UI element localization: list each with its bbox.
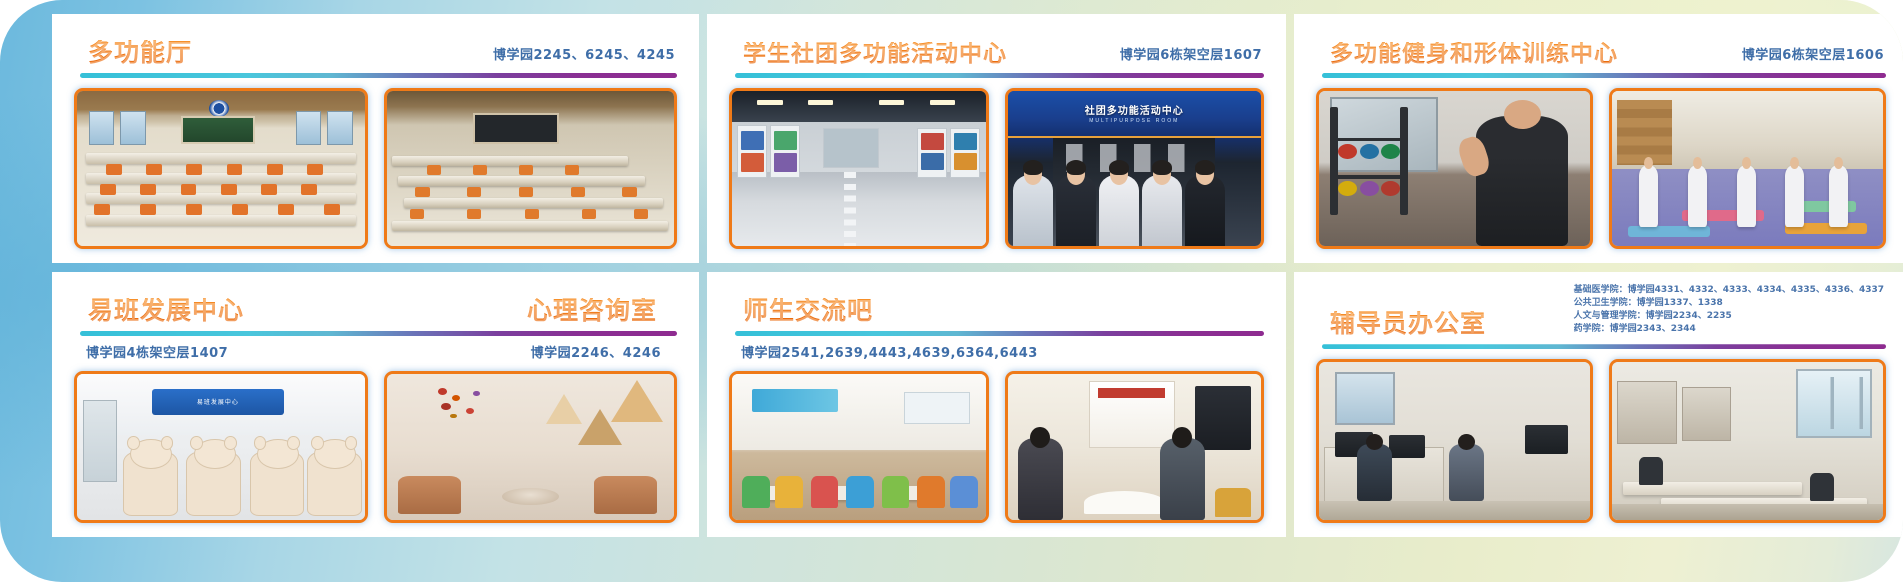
card-title-secondary: 心理咨询室	[527, 298, 657, 324]
card-photos	[1312, 78, 1890, 253]
photo-student-lounge-colorful-chairs[interactable]	[729, 371, 989, 523]
photo-yoga-studio[interactable]	[1609, 88, 1886, 249]
card-header: 多功能健身和形体训练中心 博学园6栋架空层1606	[1312, 26, 1890, 66]
card-yiban-development-and-counseling[interactable]: 易班发展中心 心理咨询室 博学园4栋架空层1407 博学园2246、4246 易…	[52, 272, 699, 537]
photo-banner-title: 社团多功能活动中心	[1085, 102, 1184, 117]
card-photos: 易班发展中心	[70, 361, 681, 527]
card-location-row: 博学园4栋架空层1407 博学园2246、4246	[70, 336, 681, 361]
header-divider	[1322, 344, 1886, 349]
card-teacher-student-exchange-bar[interactable]: 师生交流吧 博学园2541,2639,4443,4639,6364,6443	[707, 272, 1286, 537]
card-photos	[70, 78, 681, 253]
card-location-secondary: 博学园2246、4246	[531, 342, 661, 361]
photo-exhibition-corridor[interactable]	[729, 88, 989, 249]
header-divider	[80, 73, 677, 78]
photo-yiban-center-mascots[interactable]: 易班发展中心	[74, 371, 368, 523]
photo-consultation-desk-meeting[interactable]	[1005, 371, 1265, 523]
photo-banner-subtitle: MULTIPURPOSE ROOM	[1089, 118, 1179, 124]
card-location: 博学园2541,2639,4443,4639,6364,6443	[741, 342, 1038, 361]
photo-club-students-group-photo[interactable]: 社团多功能活动中心 MULTIPURPOSE ROOM	[1005, 88, 1265, 249]
card-location-lines: 基础医学院：博学园4331、4332、4333、4334、4335、4336、4…	[1574, 284, 1884, 337]
photo-lecture-hall-front-view[interactable]	[74, 88, 368, 249]
card-header: 易班发展中心 心理咨询室	[70, 284, 681, 324]
photo-psychological-counseling-room[interactable]	[384, 371, 678, 523]
card-location: 博学园4栋架空层1407	[86, 342, 228, 361]
location-line: 公共卫生学院：博学园1337、1338	[1574, 297, 1884, 310]
card-location: 博学园6栋架空层1607	[1120, 44, 1262, 66]
location-line: 人文与管理学院：博学园2234、2235	[1574, 310, 1884, 323]
card-title: 多功能健身和形体训练中心	[1330, 42, 1618, 66]
card-header: 辅导员办公室 基础医学院：博学园4331、4332、4333、4334、4335…	[1312, 284, 1890, 337]
card-photos: 社团多功能活动中心 MULTIPURPOSE ROOM	[725, 78, 1268, 253]
card-title: 易班发展中心	[88, 298, 244, 324]
photo-counselor-office-staff[interactable]	[1316, 359, 1593, 523]
photo-gym-weight-room[interactable]	[1316, 88, 1593, 249]
card-title: 师生交流吧	[743, 298, 873, 324]
facility-card-grid: 多功能厅 博学园2245、6245、4245	[0, 0, 1903, 582]
poster-root: 多功能厅 博学园2245、6245、4245	[0, 0, 1903, 582]
card-header: 师生交流吧	[725, 284, 1268, 324]
card-counselor-office[interactable]: 辅导员办公室 基础医学院：博学园4331、4332、4333、4334、4335…	[1294, 272, 1903, 537]
card-multifunction-hall[interactable]: 多功能厅 博学园2245、6245、4245	[52, 14, 699, 263]
header-divider	[735, 331, 1264, 336]
card-title: 辅导员办公室	[1330, 311, 1486, 337]
location-line: 药学院：博学园2343、2344	[1574, 323, 1884, 336]
card-photos	[1312, 349, 1890, 527]
photo-counselor-office-window[interactable]	[1609, 359, 1886, 523]
header-divider	[80, 331, 677, 336]
card-photos	[725, 361, 1268, 527]
card-location: 博学园2245、6245、4245	[493, 44, 675, 66]
card-header: 学生社团多功能活动中心 博学园6栋架空层1607	[725, 26, 1268, 66]
card-fitness-and-body-training-center[interactable]: 多功能健身和形体训练中心 博学园6栋架空层1606	[1294, 14, 1903, 263]
card-location-row: 博学园2541,2639,4443,4639,6364,6443	[725, 336, 1268, 361]
card-student-club-activity-center[interactable]: 学生社团多功能活动中心 博学园6栋架空层1607	[707, 14, 1286, 263]
card-location: 博学园6栋架空层1606	[1742, 44, 1884, 66]
card-title: 学生社团多功能活动中心	[743, 42, 1007, 66]
card-title: 多功能厅	[88, 40, 192, 66]
photo-lecture-hall-angled-view[interactable]	[384, 88, 678, 249]
header-divider	[1322, 73, 1886, 78]
card-header: 多功能厅 博学园2245、6245、4245	[70, 26, 681, 66]
header-divider	[735, 73, 1264, 78]
location-line: 基础医学院：博学园4331、4332、4333、4334、4335、4336、4…	[1574, 284, 1884, 297]
